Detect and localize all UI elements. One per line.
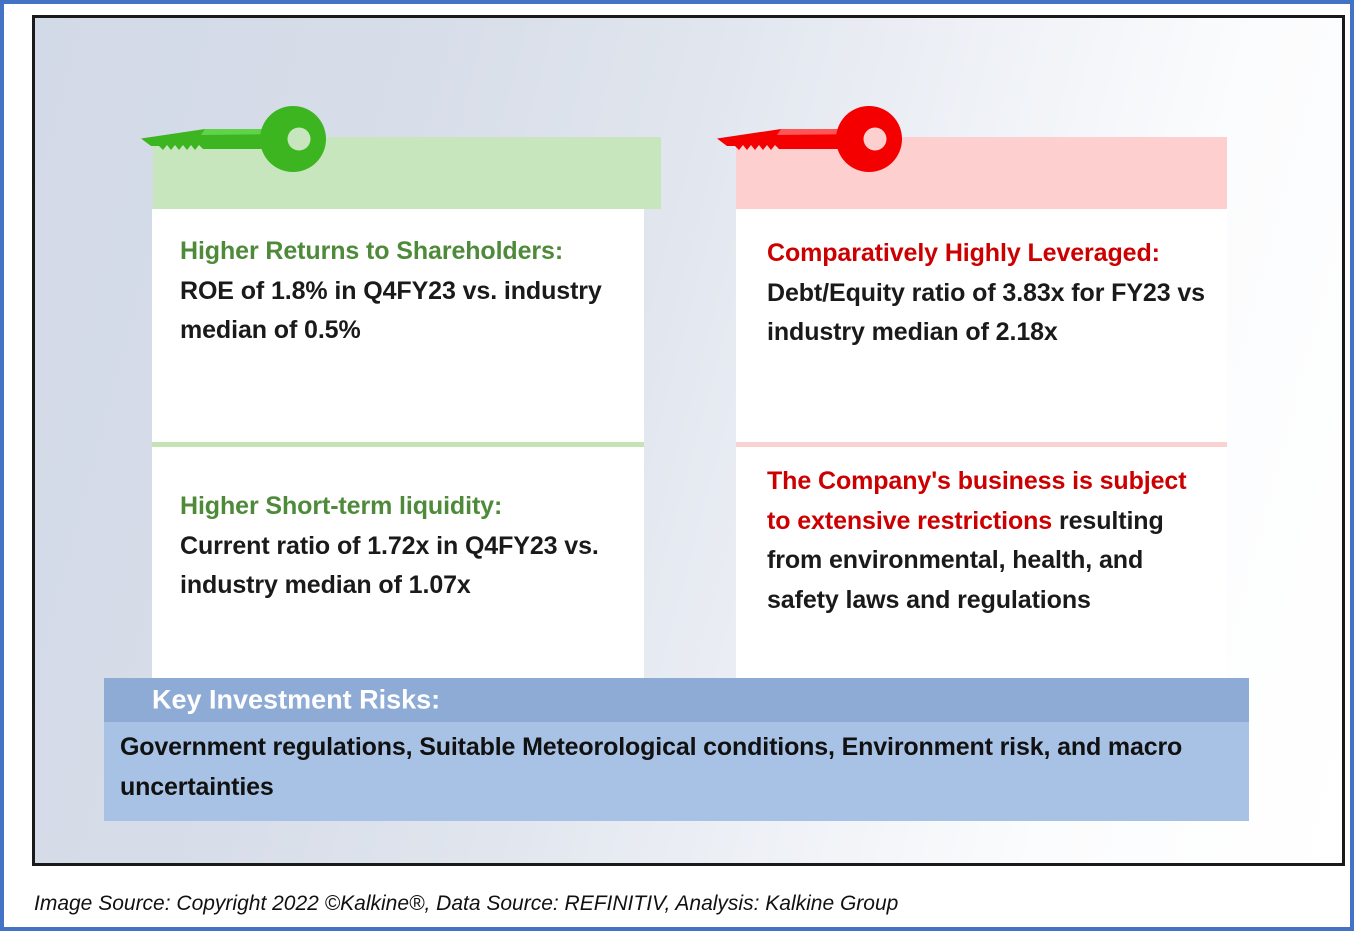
key-investment-risks-banner: Key Investment Risks: Government regulat…: [104, 678, 1249, 821]
positive-item-2: Higher Short-term liquidity: Current rat…: [180, 487, 630, 606]
key-negatives-panel: Comparatively Highly Leveraged: Debt/Equ…: [736, 209, 1227, 688]
key-icon: [717, 105, 902, 173]
negatives-divider: [736, 442, 1227, 447]
source-caption: Image Source: Copyright 2022 ©Kalkine®, …: [34, 892, 898, 916]
positive-item-2-lead: Higher Short-term liquidity:: [180, 492, 502, 520]
positive-item-1-lead: Higher Returns to Shareholders:: [180, 237, 563, 265]
negative-item-1-body: Debt/Equity ratio of 3.83x for FY23 vs i…: [767, 279, 1205, 347]
positive-item-1: Higher Returns to Shareholders: ROE of 1…: [180, 232, 630, 351]
outer-blue-frame: Key Positives Key Negatives Higher Retur…: [0, 0, 1354, 931]
key-icon: [141, 105, 326, 173]
positives-divider: [152, 442, 644, 447]
positive-item-2-body: Current ratio of 1.72x in Q4FY23 vs. ind…: [180, 532, 599, 600]
slide-content-frame: Key Positives Key Negatives Higher Retur…: [32, 15, 1345, 866]
risks-header-label: Key Investment Risks:: [152, 685, 440, 716]
risks-header-band: Key Investment Risks:: [104, 678, 1249, 722]
negative-item-1: Comparatively Highly Leveraged: Debt/Equ…: [767, 234, 1213, 353]
negative-item-1-lead: Comparatively Highly Leveraged:: [767, 239, 1160, 267]
key-positives-panel: Higher Returns to Shareholders: ROE of 1…: [152, 209, 644, 688]
negative-item-2: The Company's business is subject to ext…: [767, 462, 1213, 620]
positive-item-1-body: ROE of 1.8% in Q4FY23 vs. industry media…: [180, 277, 602, 345]
risks-body: Government regulations, Suitable Meteoro…: [104, 722, 1249, 821]
risks-body-text: Government regulations, Suitable Meteoro…: [120, 728, 1233, 807]
